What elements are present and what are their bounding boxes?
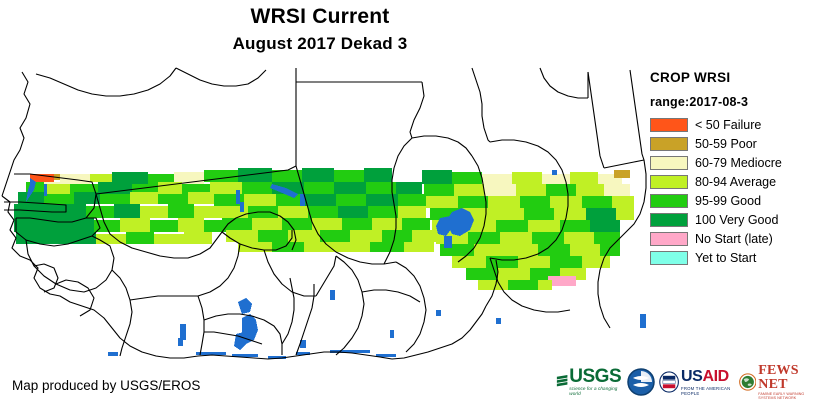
legend-item-failure[interactable]: < 50 Failure: [650, 116, 816, 133]
legend-item-yet-to-start[interactable]: Yet to Start: [650, 249, 816, 266]
map-canvas[interactable]: [0, 62, 648, 362]
legend-swatch-mediocre: [650, 156, 688, 170]
legend-items-list: < 50 Failure 50-59 Poor 60-79 Mediocre 8…: [650, 116, 816, 266]
usgs-wordmark: USGS: [569, 368, 623, 386]
legend-label-good: 95-99 Good: [695, 194, 761, 208]
legend-item-mediocre[interactable]: 60-79 Mediocre: [650, 154, 816, 171]
legend-item-good[interactable]: 95-99 Good: [650, 192, 816, 209]
legend-swatch-good: [650, 194, 688, 208]
legend-swatch-poor: [650, 137, 688, 151]
fews-wordmark: FEWS NET: [758, 364, 816, 392]
legend-label-failure: < 50 Failure: [695, 118, 761, 132]
page-title: WRSI Current: [0, 4, 640, 30]
legend-swatch-average: [650, 175, 688, 189]
legend-label-average: 80-94 Average: [695, 175, 776, 189]
legend-item-very-good[interactable]: 100 Very Good: [650, 211, 816, 228]
legend-heading: CROP WRSI: [650, 70, 816, 85]
usaid-us-text: US: [681, 368, 702, 385]
legend-label-yet-to-start: Yet to Start: [695, 251, 756, 265]
map-credit: Map produced by USGS/EROS: [12, 378, 200, 393]
agency-logos: USGS science for a changing world USAID …: [556, 362, 816, 402]
map-title-block: WRSI Current August 2017 Dekad 3: [0, 4, 640, 56]
fews-net-logo[interactable]: FEWS NET FAMINE EARLY WARNING SYSTEMS NE…: [739, 365, 816, 399]
fews-globe-icon: [739, 368, 757, 396]
legend-swatch-failure: [650, 118, 688, 132]
legend-label-mediocre: 60-79 Mediocre: [695, 156, 782, 170]
legend-label-no-start: No Start (late): [695, 232, 773, 246]
usaid-wordmark: USAID: [681, 368, 735, 386]
page-subtitle: August 2017 Dekad 3: [0, 32, 640, 56]
usaid-seal-icon: [659, 368, 679, 396]
usgs-logo[interactable]: USGS science for a changing world: [556, 365, 623, 399]
west-africa-wrsi-map[interactable]: [0, 62, 648, 362]
legend-swatch-no-start: [650, 232, 688, 246]
legend-swatch-very-good: [650, 213, 688, 227]
map-legend: CROP WRSI range:2017-08-3 < 50 Failure 5…: [650, 70, 816, 268]
usaid-tagline: FROM THE AMERICAN PEOPLE: [681, 386, 735, 396]
legend-item-average[interactable]: 80-94 Average: [650, 173, 816, 190]
noaa-logo[interactable]: [627, 365, 655, 399]
noaa-seal-icon: [627, 368, 655, 396]
usaid-aid-text: AID: [702, 368, 728, 385]
legend-range-label: range:2017-08-3: [650, 95, 816, 109]
usgs-wave-icon: [556, 372, 568, 392]
legend-item-no-start[interactable]: No Start (late): [650, 230, 816, 247]
legend-label-very-good: 100 Very Good: [695, 213, 778, 227]
fews-tagline: FAMINE EARLY WARNING SYSTEMS NETWORK: [758, 392, 816, 400]
legend-item-poor[interactable]: 50-59 Poor: [650, 135, 816, 152]
usaid-logo[interactable]: USAID FROM THE AMERICAN PEOPLE: [659, 365, 735, 399]
usgs-tagline: science for a changing world: [569, 386, 623, 396]
legend-label-poor: 50-59 Poor: [695, 137, 757, 151]
legend-swatch-yet-to-start: [650, 251, 688, 265]
